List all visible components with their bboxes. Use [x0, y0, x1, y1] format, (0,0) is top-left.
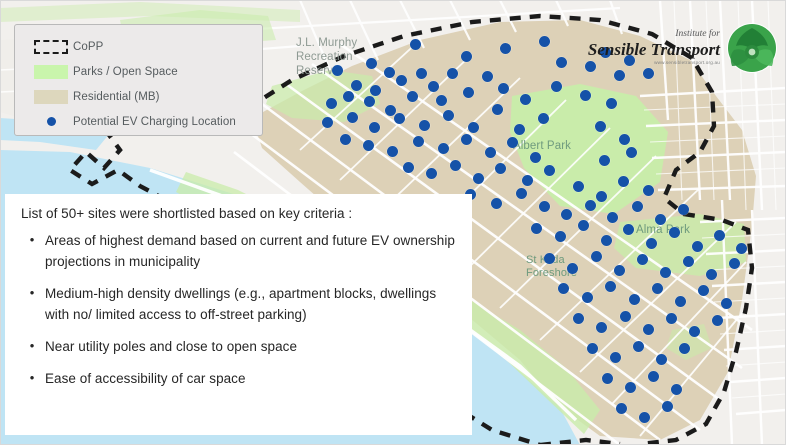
criteria-item: •Ease of accessibility of car space — [19, 368, 458, 389]
ev-charging-dot — [591, 251, 602, 262]
ev-charging-dot — [582, 292, 593, 303]
ev-charging-dot — [573, 181, 584, 192]
ev-charging-dot — [407, 91, 418, 102]
ev-charging-dot — [520, 94, 531, 105]
ev-charging-dot — [443, 110, 454, 121]
ev-charging-dot — [498, 83, 509, 94]
ev-charging-dot — [689, 326, 700, 337]
ev-charging-dot — [683, 256, 694, 267]
ev-charging-dot — [578, 220, 589, 231]
ev-charging-dot — [669, 227, 680, 238]
legend-item-copp: CoPP — [15, 34, 262, 59]
ev-charging-dot — [721, 298, 732, 309]
bullet-icon: • — [19, 336, 45, 357]
ev-charging-dot — [660, 267, 671, 278]
ev-charging-dot — [629, 294, 640, 305]
brand-logo: Institute for Sensible Transport www.sen… — [588, 22, 778, 74]
map-legend: CoPP Parks / Open Space Residential (MB)… — [14, 24, 263, 136]
ev-charging-dot — [419, 120, 430, 131]
ev-charging-dot — [637, 254, 648, 265]
ev-charging-dot — [387, 146, 398, 157]
criteria-item: •Areas of highest demand based on curren… — [19, 230, 458, 272]
criteria-item-text: Ease of accessibility of car space — [45, 368, 246, 389]
ev-charging-dot — [343, 91, 354, 102]
ev-charging-dot — [698, 285, 709, 296]
ev-charging-dot — [394, 113, 405, 124]
ev-charging-dot — [428, 81, 439, 92]
legend-label-copp: CoPP — [73, 41, 103, 53]
ev-charging-dot — [616, 403, 627, 414]
ev-charging-dot — [416, 68, 427, 79]
ev-charging-dot — [678, 204, 689, 215]
ev-charging-dot — [551, 81, 562, 92]
ev-charging-dot — [610, 352, 621, 363]
ev-charging-dot — [485, 147, 496, 158]
ev-charging-dot — [706, 269, 717, 280]
ev-charging-dot — [602, 373, 613, 384]
ev-charging-dot — [623, 224, 634, 235]
criteria-item: •Near utility poles and close to open sp… — [19, 336, 458, 357]
parks-swatch-icon — [29, 65, 73, 79]
ev-charging-dot — [601, 235, 612, 246]
ev-charging-dot — [585, 200, 596, 211]
ev-charging-dot — [607, 212, 618, 223]
ev-charging-dot — [473, 173, 484, 184]
legend-label-ev-location: Potential EV Charging Location — [73, 116, 236, 128]
ev-charging-dot — [500, 43, 511, 54]
ev-charging-dot — [632, 201, 643, 212]
ev-charging-dot — [450, 160, 461, 171]
criteria-item-text: Near utility poles and close to open spa… — [45, 336, 297, 357]
ev-charging-dot — [646, 238, 657, 249]
brand-wordmark: Institute for Sensible Transport www.sen… — [588, 30, 720, 65]
legend-label-residential: Residential (MB) — [73, 91, 160, 103]
ev-charging-dot — [556, 57, 567, 68]
ev-charging-dot — [461, 51, 472, 62]
ev-charging-dot — [385, 105, 396, 116]
ev-charging-dot — [322, 117, 333, 128]
ev-charging-dot — [648, 371, 659, 382]
criteria-panel: List of 50+ sites were shortlisted based… — [5, 194, 472, 435]
ev-charging-dot — [436, 95, 447, 106]
criteria-list: •Areas of highest demand based on curren… — [19, 230, 458, 389]
ev-charging-dot — [671, 384, 682, 395]
ev-charging-dot — [656, 354, 667, 365]
ev-charging-dot — [639, 412, 650, 423]
ev-charging-dot — [539, 201, 550, 212]
ev-charging-dot — [396, 75, 407, 86]
bullet-icon: • — [19, 230, 45, 272]
ev-charging-dot — [461, 134, 472, 145]
ev-charging-dot — [614, 265, 625, 276]
ev-charging-dot — [363, 140, 374, 151]
ev-charging-dot — [643, 185, 654, 196]
bullet-icon: • — [19, 368, 45, 389]
legend-item-parks: Parks / Open Space — [15, 59, 262, 84]
ev-charging-dot — [692, 241, 703, 252]
ev-charging-dot — [652, 283, 663, 294]
slide-canvas: J.L. Murphy Recreation Reserve Albert Pa… — [0, 0, 786, 445]
ev-charging-dot — [491, 198, 502, 209]
ev-charging-dot — [618, 176, 629, 187]
ev-charging-dot — [573, 313, 584, 324]
ev-charging-dot — [507, 137, 518, 148]
ev-charging-dot — [544, 165, 555, 176]
ev-charging-dot — [403, 162, 414, 173]
ev-charging-dot — [366, 58, 377, 69]
residential-swatch-icon — [29, 90, 73, 104]
ev-charging-dot — [482, 71, 493, 82]
ev-charging-dot — [384, 67, 395, 78]
ev-charging-dot — [495, 163, 506, 174]
ev-dot-icon — [29, 117, 73, 126]
ev-charging-dot — [599, 155, 610, 166]
ev-charging-dot — [531, 223, 542, 234]
ev-charging-dot — [712, 315, 723, 326]
ev-charging-dot — [492, 104, 503, 115]
ev-charging-dot — [626, 147, 637, 158]
ev-charging-dot — [555, 231, 566, 242]
ev-charging-dot — [633, 341, 644, 352]
ev-charging-dot — [340, 134, 351, 145]
ev-charging-dot — [413, 136, 424, 147]
legend-item-ev-location: Potential EV Charging Location — [15, 109, 262, 134]
criteria-title: List of 50+ sites were shortlisted based… — [21, 206, 458, 221]
ev-charging-dot — [675, 296, 686, 307]
ev-charging-dot — [438, 143, 449, 154]
ev-charging-dot — [351, 80, 362, 91]
ev-charging-dot — [410, 39, 421, 50]
ev-charging-dot — [714, 230, 725, 241]
ev-charging-dot — [643, 324, 654, 335]
ev-charging-dot — [538, 113, 549, 124]
ev-charging-dot — [606, 98, 617, 109]
criteria-item: •Medium-high density dwellings (e.g., ap… — [19, 283, 458, 325]
bullet-icon: • — [19, 283, 45, 325]
ev-charging-dot — [522, 175, 533, 186]
ev-charging-dot — [364, 96, 375, 107]
ev-charging-dot — [580, 90, 591, 101]
legend-label-parks: Parks / Open Space — [73, 66, 178, 78]
ev-charging-dot — [558, 283, 569, 294]
ev-charging-dot — [544, 253, 555, 264]
ev-charging-dot — [347, 112, 358, 123]
ev-charging-dot — [514, 124, 525, 135]
ev-charging-dot — [662, 401, 673, 412]
brand-name: Sensible Transport — [588, 41, 720, 58]
ev-charging-dot — [332, 65, 343, 76]
criteria-item-text: Areas of highest demand based on current… — [45, 230, 458, 272]
ev-charging-dot — [567, 263, 578, 274]
ev-charging-dot — [447, 68, 458, 79]
ev-charging-dot — [736, 243, 747, 254]
ev-charging-dot — [516, 188, 527, 199]
ev-charging-dot — [620, 311, 631, 322]
ev-charging-dot — [468, 122, 479, 133]
ev-charging-dot — [596, 322, 607, 333]
ev-charging-dot — [369, 122, 380, 133]
ev-charging-dot — [729, 258, 740, 269]
copp-boundary-icon — [29, 40, 73, 54]
ev-charging-dot — [587, 343, 598, 354]
ev-charging-dot — [666, 313, 677, 324]
ev-charging-dot — [326, 98, 337, 109]
brand-url: www.sensibletransport.org.au — [588, 61, 720, 66]
ev-charging-dot — [530, 152, 541, 163]
ev-charging-dot — [561, 209, 572, 220]
criteria-item-text: Medium-high density dwellings (e.g., apa… — [45, 283, 458, 325]
ev-charging-dot — [605, 281, 616, 292]
ev-charging-dot — [655, 214, 666, 225]
ev-charging-dot — [619, 134, 630, 145]
ev-charging-dot — [463, 87, 474, 98]
ev-charging-dot — [370, 85, 381, 96]
ev-charging-dot — [595, 121, 606, 132]
ev-charging-dot — [625, 382, 636, 393]
legend-item-residential: Residential (MB) — [15, 84, 262, 109]
ev-charging-dot — [426, 168, 437, 179]
brand-tagline: Institute for — [588, 30, 720, 40]
ev-charging-dot — [596, 191, 607, 202]
ev-charging-dot — [679, 343, 690, 354]
ev-charging-dot — [539, 36, 550, 47]
recycle-leaf-icon — [726, 22, 778, 74]
